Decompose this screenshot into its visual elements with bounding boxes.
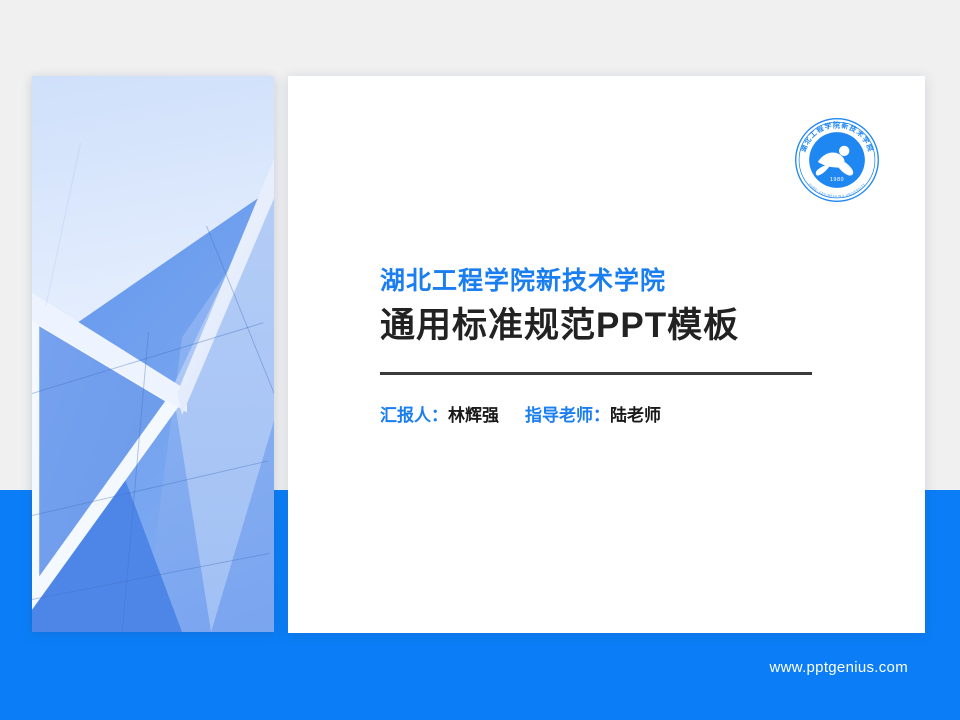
website-url: www.pptgenius.com <box>770 659 909 676</box>
advisor-name: 陆老师 <box>610 406 661 425</box>
svg-text:1980: 1980 <box>830 177 844 183</box>
cover-photo <box>32 76 274 632</box>
content-card: 湖北工程学院新技术学院 HUBEI ENGINEERING UNIVERSITY… <box>288 76 925 633</box>
page-title: 通用标准规范PPT模板 <box>380 305 840 348</box>
title-block: 湖北工程学院新技术学院 通用标准规范PPT模板 汇报人：林辉强指导老师：陆老师 <box>380 266 840 426</box>
presenter-name: 林辉强 <box>448 406 499 425</box>
byline: 汇报人：林辉强指导老师：陆老师 <box>380 401 840 426</box>
presenter-label: 汇报人： <box>380 406 448 425</box>
school-name: 湖北工程学院新技术学院 <box>380 266 840 297</box>
title-divider <box>380 372 812 375</box>
university-logo-icon: 湖北工程学院新技术学院 HUBEI ENGINEERING UNIVERSITY… <box>789 112 885 208</box>
advisor-label: 指导老师： <box>525 406 610 425</box>
